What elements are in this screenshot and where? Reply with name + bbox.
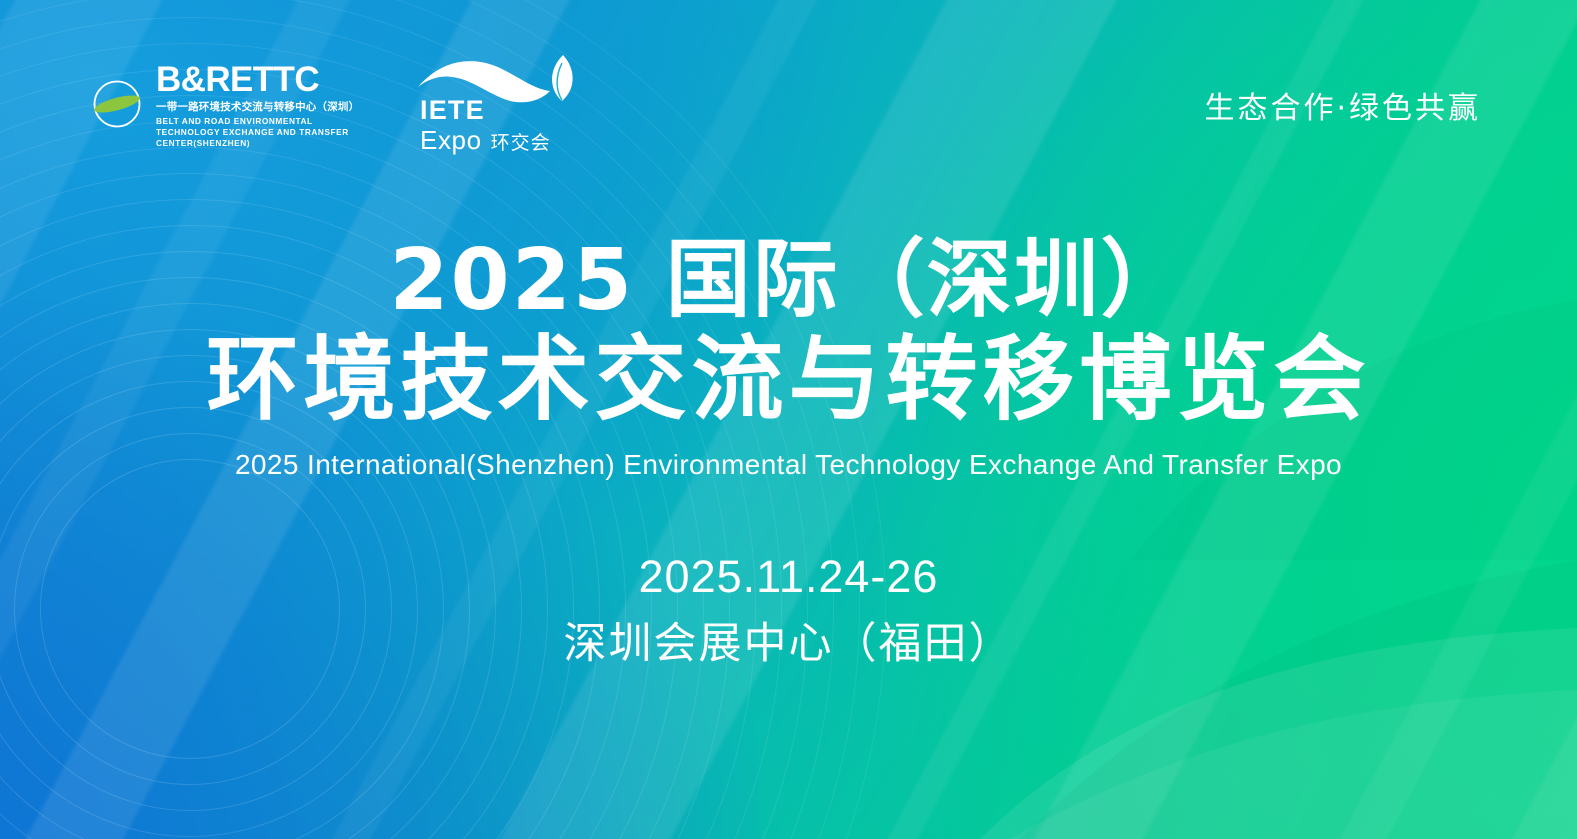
brettc-name-cn: 一带一路环境技术交流与转移中心（深圳） [156, 101, 362, 114]
iete-name-cn: 环交会 [491, 134, 551, 153]
brettc-name-en: BELT AND ROAD ENVIRONMENTAL TECHNOLOGY E… [156, 116, 362, 149]
iete-expo-word: Expo [420, 127, 482, 153]
event-date: 2025.11.24-26 [639, 551, 939, 603]
logo-group: B&RETTC 一带一路环境技术交流与转移中心（深圳） BELT AND ROA… [88, 53, 576, 157]
banner-header: B&RETTC 一带一路环境技术交流与转移中心（深圳） BELT AND ROA… [0, 0, 1577, 210]
globe-ring-icon [88, 79, 146, 131]
iete-line1: IETE [420, 95, 485, 125]
iete-wordmark: IETE Expo 环交会 [420, 97, 551, 153]
logo-brettc: B&RETTC 一带一路环境技术交流与转移中心（深圳） BELT AND ROA… [88, 62, 388, 149]
event-banner: B&RETTC 一带一路环境技术交流与转移中心（深圳） BELT AND ROA… [0, 0, 1577, 839]
event-meta: 2025.11.24-26 深圳会展中心（福田） [564, 551, 1014, 671]
brettc-acronym: B&RETTC [156, 62, 362, 97]
brettc-textblock: B&RETTC 一带一路环境技术交流与转移中心（深圳） BELT AND ROA… [156, 62, 362, 149]
title-cn-line2: 环境技术交流与转移博览会 [206, 330, 1370, 429]
banner-main: 2025 国际（深圳） 环境技术交流与转移博览会 2025 Internatio… [0, 236, 1577, 671]
title-cn-line1: 2025 国际（深圳） [389, 236, 1187, 326]
iete-line2-row: Expo 环交会 [420, 127, 551, 153]
logo-iete-expo: IETE Expo 环交会 [416, 53, 576, 157]
event-venue: 深圳会展中心（福田） [564, 609, 1014, 671]
title-en: 2025 International(Shenzhen) Environment… [235, 449, 1342, 481]
header-slogan: 生态合作·绿色共赢 [1204, 83, 1481, 127]
